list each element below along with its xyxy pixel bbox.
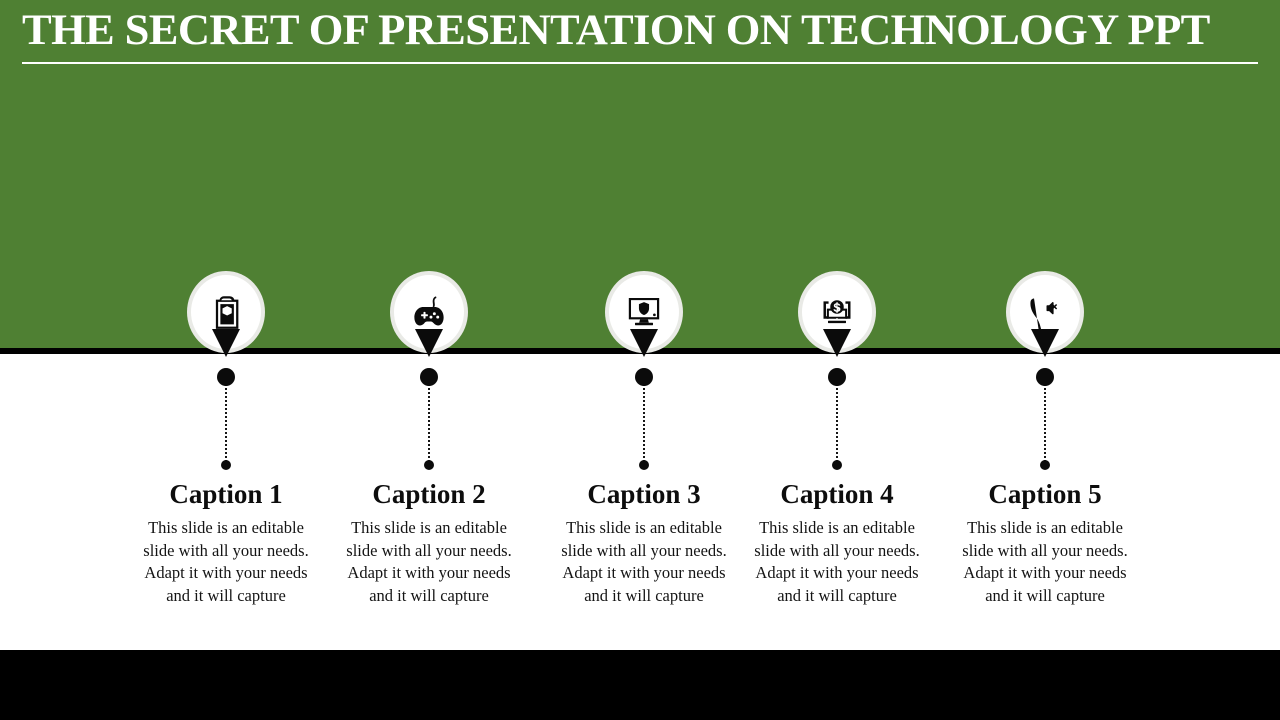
timeline-pin-3[interactable] [605, 271, 683, 353]
package-box-icon [208, 294, 244, 330]
caption-body: This slide is an editable slide with all… [952, 517, 1138, 607]
connector-node-large [1036, 368, 1054, 386]
caption-title: Caption 1 [133, 477, 319, 511]
page-title: THE SECRET OF PRESENTATION ON TECHNOLOGY… [22, 2, 1280, 60]
timeline-pin-4[interactable] [798, 271, 876, 353]
pin-pointer-triangle [823, 329, 851, 357]
presentation-slide: THE SECRET OF PRESENTATION ON TECHNOLOGY… [0, 0, 1280, 720]
caption-title: Caption 5 [952, 477, 1138, 511]
caption-block-3: Caption 3This slide is an editable slide… [551, 477, 737, 607]
pin-pointer-triangle [1031, 329, 1059, 357]
connector-node-small [639, 460, 649, 470]
connector-node-large [420, 368, 438, 386]
footer-band [0, 650, 1280, 720]
title-underline-rule [22, 62, 1258, 64]
caption-title: Caption 4 [744, 477, 930, 511]
connector-4 [827, 354, 847, 474]
monitor-dollar-icon [819, 294, 855, 330]
caption-title: Caption 3 [551, 477, 737, 511]
pin-pointer-triangle [212, 329, 240, 357]
connector-dotted-line [836, 376, 838, 466]
timeline-pin-2[interactable] [390, 271, 468, 353]
phone-mute-icon [1027, 294, 1063, 330]
connector-dotted-line [643, 376, 645, 466]
caption-block-4: Caption 4This slide is an editable slide… [744, 477, 930, 607]
connector-dotted-line [1044, 376, 1046, 466]
connector-dotted-line [428, 376, 430, 466]
connector-node-large [828, 368, 846, 386]
monitor-shield-icon [626, 294, 662, 330]
connector-node-large [635, 368, 653, 386]
caption-block-2: Caption 2This slide is an editable slide… [336, 477, 522, 607]
connector-5 [1035, 354, 1055, 474]
connector-2 [419, 354, 439, 474]
connector-dotted-line [225, 376, 227, 466]
timeline-pin-1[interactable] [187, 271, 265, 353]
connector-node-large [217, 368, 235, 386]
connector-node-small [221, 460, 231, 470]
caption-block-5: Caption 5This slide is an editable slide… [952, 477, 1138, 607]
connector-1 [216, 354, 236, 474]
game-controller-icon [411, 294, 447, 330]
connector-node-small [832, 460, 842, 470]
caption-body: This slide is an editable slide with all… [133, 517, 319, 607]
timeline-pin-5[interactable] [1006, 271, 1084, 353]
caption-block-1: Caption 1This slide is an editable slide… [133, 477, 319, 607]
caption-body: This slide is an editable slide with all… [551, 517, 737, 607]
connector-node-small [1040, 460, 1050, 470]
pin-pointer-triangle [415, 329, 443, 357]
pin-pointer-triangle [630, 329, 658, 357]
caption-body: This slide is an editable slide with all… [744, 517, 930, 607]
connector-node-small [424, 460, 434, 470]
caption-title: Caption 2 [336, 477, 522, 511]
connector-3 [634, 354, 654, 474]
caption-body: This slide is an editable slide with all… [336, 517, 522, 607]
